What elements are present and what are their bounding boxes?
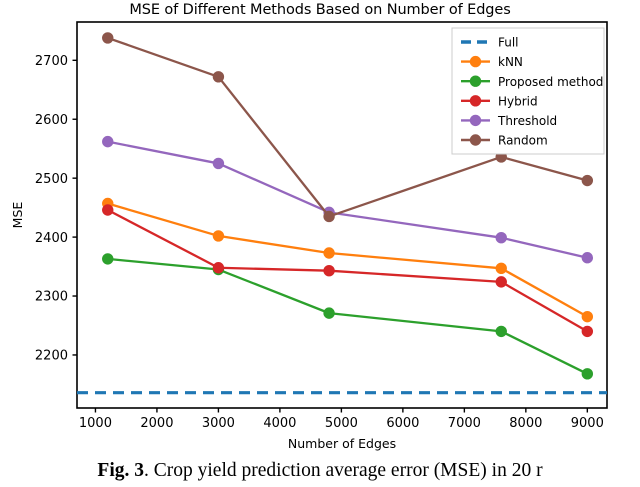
data-point[interactable]: [582, 326, 592, 336]
legend-marker: [470, 56, 480, 66]
y-axis-tick-label: 2600: [35, 113, 68, 128]
data-point[interactable]: [103, 136, 113, 146]
x-axis-tick-label: 9000: [571, 416, 604, 431]
legend-marker: [470, 135, 480, 145]
legend-label[interactable]: Full: [498, 36, 519, 50]
data-point[interactable]: [103, 205, 113, 215]
y-axis-tick-label: 2500: [35, 172, 68, 187]
series-threshold: [103, 136, 593, 262]
y-axis-tick-label: 2400: [35, 231, 68, 246]
data-point[interactable]: [103, 33, 113, 43]
figure-caption: Fig. 3. Crop yield prediction average er…: [0, 460, 640, 482]
legend-marker: [470, 115, 480, 125]
figure-number: Fig. 3: [97, 460, 144, 481]
series-line: [108, 142, 588, 258]
data-point[interactable]: [582, 175, 592, 185]
figure-caption-text: . Crop yield prediction average error (M…: [144, 460, 543, 481]
x-axis-tick-label: 1000: [79, 416, 112, 431]
y-axis-tick-label: 2200: [35, 349, 68, 364]
data-point[interactable]: [213, 263, 223, 273]
data-point[interactable]: [213, 231, 223, 241]
legend-label[interactable]: Random: [498, 134, 548, 148]
legend-label[interactable]: kNN: [498, 55, 523, 69]
x-axis-tick-label: 7000: [448, 416, 481, 431]
data-point[interactable]: [213, 72, 223, 82]
data-point[interactable]: [496, 277, 506, 287]
series-knn: [103, 198, 593, 322]
legend-label[interactable]: Proposed method: [498, 75, 603, 89]
data-point[interactable]: [103, 254, 113, 264]
data-point[interactable]: [324, 248, 334, 258]
legend-marker: [470, 96, 480, 106]
x-axis-tick-label: 2000: [140, 416, 173, 431]
chart-plot: 1000200030004000500060007000800090002200…: [0, 0, 640, 460]
chart-legend: FullkNNProposed methodHybridThresholdRan…: [452, 28, 604, 154]
data-point[interactable]: [582, 311, 592, 321]
data-point[interactable]: [582, 369, 592, 379]
y-axis-tick-label: 2700: [35, 54, 68, 69]
x-axis-label: Number of Edges: [288, 436, 396, 451]
data-point[interactable]: [496, 232, 506, 242]
series-line: [108, 210, 588, 331]
data-point[interactable]: [213, 158, 223, 168]
data-point[interactable]: [324, 308, 334, 318]
x-axis-tick-label: 3000: [202, 416, 235, 431]
figure-container: MSE of Different Methods Based on Number…: [0, 0, 640, 487]
data-point[interactable]: [324, 265, 334, 275]
data-point[interactable]: [582, 253, 592, 263]
data-point[interactable]: [324, 211, 334, 221]
y-axis-tick-label: 2300: [35, 290, 68, 305]
data-point[interactable]: [496, 326, 506, 336]
legend-marker: [470, 76, 480, 86]
x-axis-tick-label: 5000: [325, 416, 358, 431]
x-axis-tick-label: 4000: [263, 416, 296, 431]
legend-label[interactable]: Threshold: [497, 114, 557, 128]
x-axis-tick-label: 8000: [509, 416, 542, 431]
legend-label[interactable]: Hybrid: [498, 94, 538, 108]
x-axis-tick-label: 6000: [386, 416, 419, 431]
y-axis-label: MSE: [10, 202, 25, 229]
series-line: [108, 204, 588, 317]
data-point[interactable]: [496, 263, 506, 273]
